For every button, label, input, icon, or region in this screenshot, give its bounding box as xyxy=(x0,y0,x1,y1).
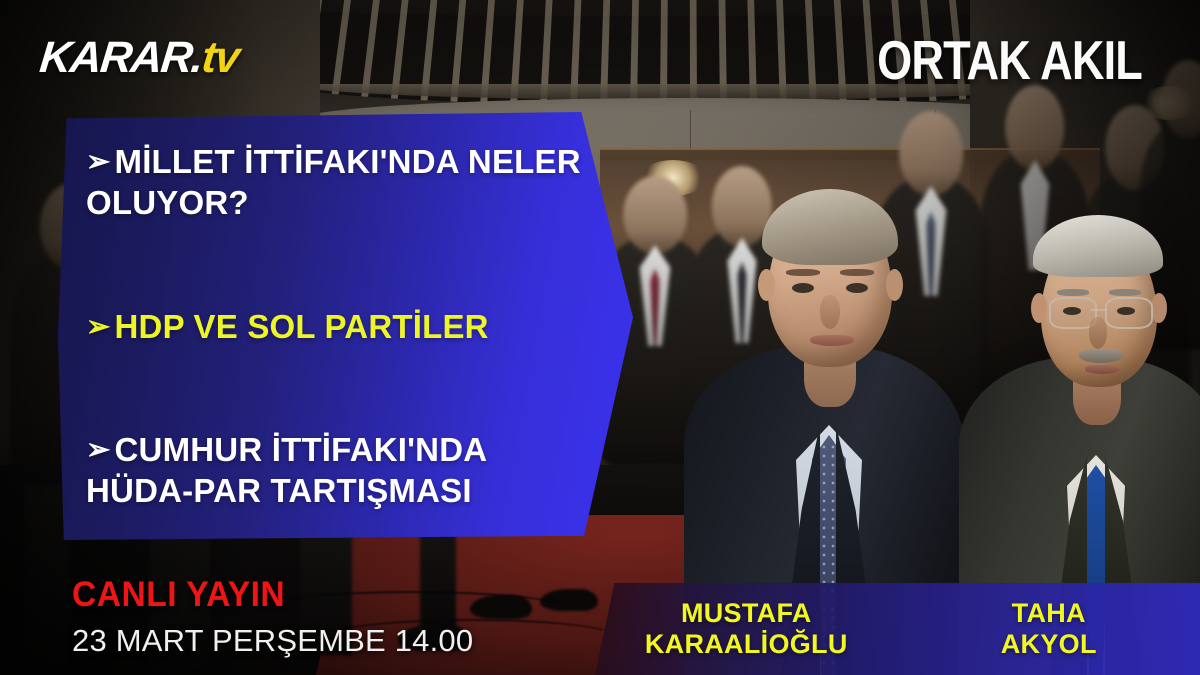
headline-item-2-text: HDP VE SOL PARTİLER xyxy=(115,308,489,345)
nose xyxy=(1089,317,1107,349)
guest-1-first-name: MUSTAFA xyxy=(681,598,812,628)
guest-2-last-name: AKYOL xyxy=(904,629,1195,660)
headline-item-1: ➢MİLLET İTTİFAKI'NDA NELER OLUYOR? xyxy=(86,142,589,224)
mouth xyxy=(1085,365,1119,374)
headline-item-1-text: MİLLET İTTİFAKI'NDA NELER OLUYOR? xyxy=(86,143,581,221)
eye-right xyxy=(846,283,868,293)
eyebrow-right xyxy=(840,269,874,276)
headline-item-3: ➢CUMHUR İTTİFAKI'NDA HÜDA-PAR TARTIŞMASI xyxy=(86,430,589,512)
ear-left xyxy=(1031,293,1047,323)
headline-panel: ➢MİLLET İTTİFAKI'NDA NELER OLUYOR? ➢HDP … xyxy=(58,112,633,540)
ear-left xyxy=(758,269,775,301)
broadcast-thumbnail: KARAR.tv ORTAK AKIL ➢MİLLET İTTİFAKI'NDA… xyxy=(0,0,1200,675)
mustache xyxy=(1079,349,1123,363)
arrow-bullet-icon: ➢ xyxy=(86,436,111,465)
eye-left xyxy=(792,283,814,293)
eyebrow-left xyxy=(1057,289,1089,296)
arrow-bullet-icon: ➢ xyxy=(86,313,111,342)
nose xyxy=(820,295,840,329)
live-badge: CANLI YAYIN xyxy=(72,575,485,615)
hair xyxy=(1033,215,1163,277)
eye-left xyxy=(1063,307,1081,315)
guest-name-bar: MUSTAFA KARAALİOĞLU TAHA AKYOL xyxy=(595,583,1200,675)
guest-1-last-name: KARAALİOĞLU xyxy=(601,629,892,660)
eyebrow-right xyxy=(1109,289,1141,296)
hair xyxy=(762,189,898,265)
mouth xyxy=(810,335,854,346)
guest-name-2: TAHA AKYOL xyxy=(898,598,1200,660)
headline-item-2: ➢HDP VE SOL PARTİLER xyxy=(86,307,589,348)
ear-right xyxy=(886,269,903,301)
broadcast-info: CANLI YAYIN 23 MART PERŞEMBE 14.00 xyxy=(72,575,502,659)
eyeglasses-bridge xyxy=(1091,309,1107,311)
guest-name-1: MUSTAFA KARAALİOĞLU xyxy=(595,598,898,660)
brand-logo-name: KARAR xyxy=(37,33,194,82)
eye-right xyxy=(1117,307,1135,315)
ear-right xyxy=(1151,293,1167,323)
brand-logo[interactable]: KARAR.tv xyxy=(38,36,241,80)
show-title: ORTAK AKIL xyxy=(877,28,1142,92)
broadcast-datetime: 23 MART PERŞEMBE 14.00 xyxy=(72,623,502,659)
eyebrow-left xyxy=(786,269,820,276)
brand-logo-tv: tv xyxy=(200,33,241,82)
arrow-bullet-icon: ➢ xyxy=(86,148,111,177)
guest-2-first-name: TAHA xyxy=(1012,598,1086,628)
headline-item-3-text: CUMHUR İTTİFAKI'NDA HÜDA-PAR TARTIŞMASI xyxy=(86,431,486,509)
